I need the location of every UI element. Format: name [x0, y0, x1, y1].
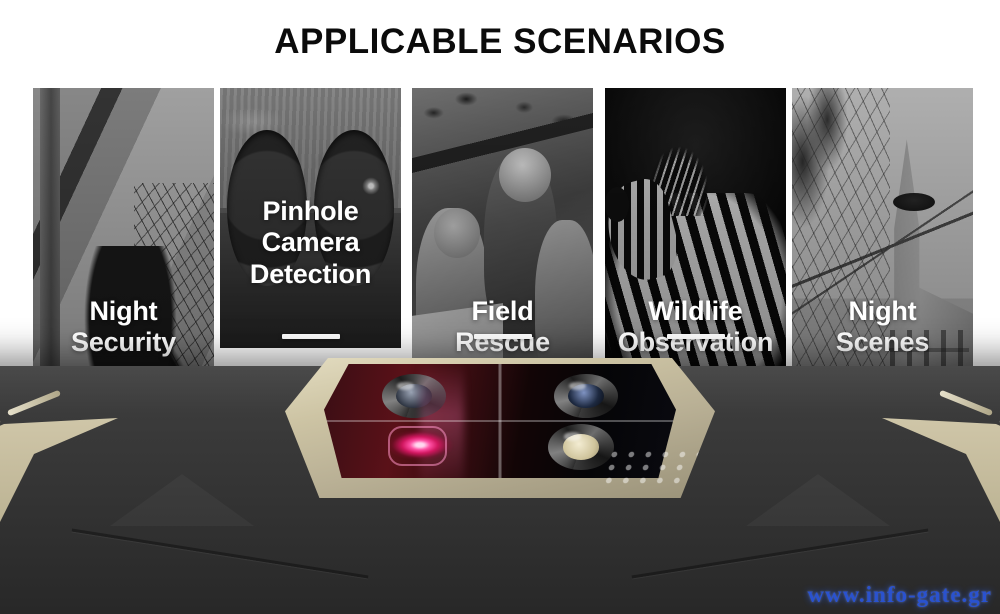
ir-illuminator [376, 416, 464, 474]
scenario-label-wildlife-observation: Wildlife Observation [605, 296, 786, 359]
plate-texture-dots [599, 448, 704, 488]
scenario-underline [854, 422, 912, 427]
scenario-card-night-scenes[interactable]: 7 Night Scenes [792, 88, 973, 614]
scenario-underline [282, 334, 340, 339]
scenario-label-field-rescue: Field Rescue [412, 296, 593, 359]
site-watermark: www.info-gate.gr [807, 582, 992, 608]
camera-bottom-right-lens [548, 424, 614, 470]
screenshot-root: APPLICABLE SCENARIOS Night Security 2202… [0, 0, 1000, 614]
scenario-label-pinhole-camera-detection: Pinhole Camera Detection [220, 196, 401, 290]
scenario-panel-strip: Night Security 2202 Pinhole Camera Detec… [0, 0, 1000, 420]
scenario-label-night-security: Night Security [33, 296, 214, 359]
scenario-label-night-scenes: Night Scenes [792, 296, 973, 359]
scenario-card-pinhole-camera-detection[interactable]: 2202 Pinhole Camera Detection [220, 88, 401, 348]
scenario-card-field-rescue[interactable]: Field Rescue [412, 88, 593, 388]
scenario-underline [474, 334, 532, 339]
scenario-card-wildlife-observation[interactable]: Wildlife Observation [605, 88, 786, 380]
scenario-underline [95, 422, 153, 427]
scenario-card-night-security[interactable]: Night Security [33, 88, 214, 614]
frame-accent-dash [0, 418, 1, 445]
scenario-underline [667, 334, 725, 339]
